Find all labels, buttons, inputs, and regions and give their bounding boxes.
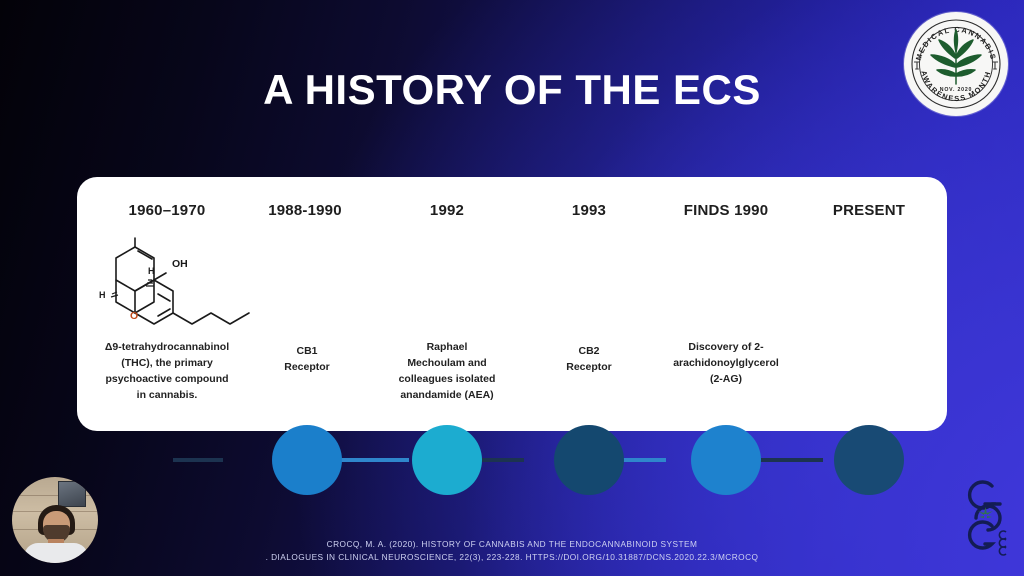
caption-line: CB2 (524, 344, 654, 360)
timeline-circle-6[interactable] (834, 425, 904, 495)
caption-line: Raphael (375, 340, 519, 356)
webcam-wall-art (58, 481, 86, 507)
timeline-caption-4: CB2 Receptor (524, 344, 654, 376)
caption-line: Receptor (524, 360, 654, 376)
caption-line: Receptor (242, 360, 372, 376)
citation-footer: CROCQ, M. A. (2020). HISTORY OF CANNABIS… (0, 538, 1024, 564)
medical-cannabis-awareness-badge: MEDICAL CANNABIS AWARENESS MONTH (904, 12, 1008, 116)
caption-line: (THC), the primary (77, 356, 257, 372)
timeline-year-2: 1988-1990 (240, 202, 370, 219)
timeline-year-4: 1993 (524, 202, 654, 219)
caption-line: colleagues isolated (375, 372, 519, 388)
molecule-label-hydrogen-lower: H (99, 290, 106, 300)
presentation-slide: A HISTORY OF THE ECS MEDICAL CANNABIS AW… (0, 0, 1024, 576)
timeline-year-5: FINDS 1990 (661, 202, 791, 219)
presenter-video-thumbnail[interactable] (12, 477, 98, 563)
caption-line: arachidonoylglycerol (655, 356, 797, 372)
caption-line: anandamide (AEA) (375, 388, 519, 404)
caption-line: Discovery of 2- (655, 340, 797, 356)
timeline-caption-3: Raphael Mechoulam and colleagues isolate… (375, 340, 519, 404)
timeline-year-1: 1960–1970 (77, 202, 257, 219)
caption-line: (2-AG) (655, 372, 797, 388)
timeline-card: 1960–1970 (77, 177, 947, 431)
timeline-circle-2[interactable] (272, 425, 342, 495)
caption-line: psychoactive compound (77, 372, 257, 388)
molecule-label-oxygen: O (130, 310, 138, 322)
citation-line-2: . DIALOGUES IN CLINICAL NEUROSCIENCE, 22… (0, 551, 1024, 564)
caption-line: in cannabis. (77, 388, 257, 404)
presenter-shirt (24, 543, 88, 563)
caption-line: Mechoulam and (375, 356, 519, 372)
timeline-year-3: 1992 (382, 202, 512, 219)
timeline-rail-segment-1 (173, 458, 223, 462)
timeline-circle-5[interactable] (691, 425, 761, 495)
molecule-label-hydrogen-upper: H (148, 266, 155, 276)
molecule-label-hydroxyl: OH (172, 258, 188, 270)
timeline-caption-5: Discovery of 2- arachidonoylglycerol (2-… (655, 340, 797, 388)
timeline-caption-2: CB1 Receptor (242, 344, 372, 376)
timeline-caption-1: Δ9-tetrahydrocannabinol (THC), the prima… (77, 340, 257, 404)
caption-line: CB1 (242, 344, 372, 360)
gcg-monogram-watermark (962, 470, 1020, 566)
thc-molecule-diagram: OH H H O (86, 236, 262, 328)
badge-date-text: NOV. 2020 (940, 87, 972, 93)
timeline-year-6: PRESENT (804, 202, 934, 219)
page-title: A HISTORY OF THE ECS (0, 66, 1024, 114)
timeline-circle-3[interactable] (412, 425, 482, 495)
citation-line-1: CROCQ, M. A. (2020). HISTORY OF CANNABIS… (0, 538, 1024, 551)
caption-line: Δ9-tetrahydrocannabinol (77, 340, 257, 356)
timeline-circle-4[interactable] (554, 425, 624, 495)
